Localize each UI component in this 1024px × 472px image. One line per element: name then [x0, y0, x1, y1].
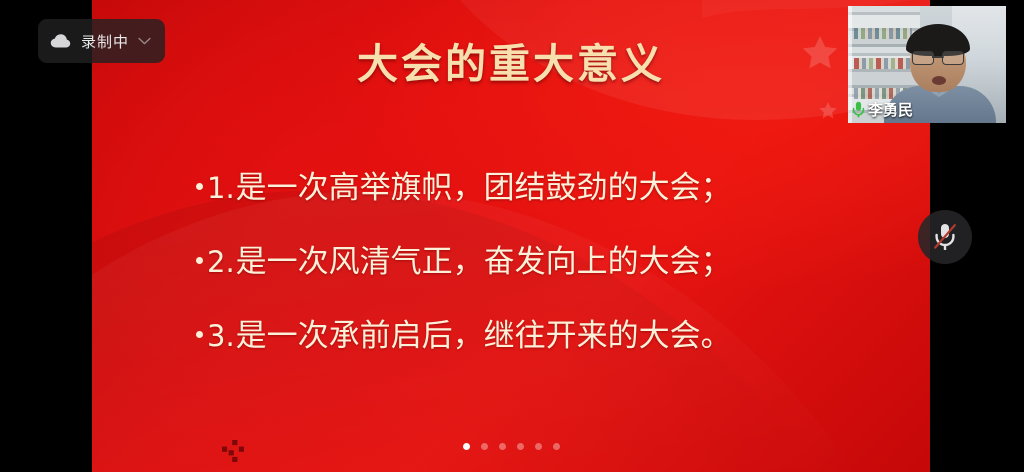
glasses-lens-left: [912, 51, 934, 65]
microphone-on-icon: [852, 101, 865, 118]
person-glasses: [912, 51, 964, 63]
bullet-number: 1.: [207, 168, 235, 208]
participant-name-plate: 李勇民: [852, 99, 913, 120]
participant-video-tile[interactable]: 李勇民: [848, 6, 1006, 123]
bullet-text: 是一次高举旗帜，团结鼓劲的大会；: [236, 168, 732, 208]
slide-bullet-list: 1. 是一次高举旗帜，团结鼓劲的大会； 2. 是一次风清气正，奋发向上的大会； …: [196, 168, 896, 390]
pinwheel-logo-icon: [220, 438, 246, 464]
slide-bullet-item: 2. 是一次风清气正，奋发向上的大会；: [196, 242, 896, 316]
bullet-number: 2.: [207, 242, 235, 282]
recording-label: 录制中: [81, 31, 129, 52]
cloud-icon: [50, 33, 72, 49]
slide-bullet-item: 3. 是一次承前启后，继往开来的大会。: [196, 316, 896, 390]
page-dot[interactable]: [499, 443, 506, 450]
shared-slide[interactable]: 大会的重大意义 1. 是一次高举旗帜，团结鼓劲的大会； 2. 是一次风清气正，奋…: [92, 0, 930, 472]
participant-name: 李勇民: [868, 99, 913, 120]
recording-status-badge[interactable]: 录制中: [38, 19, 165, 63]
page-dot[interactable]: [553, 443, 560, 450]
bullet-dot-icon: [196, 331, 203, 338]
bullet-dot-icon: [196, 183, 203, 190]
page-dot[interactable]: [517, 443, 524, 450]
person-mouth: [932, 76, 946, 85]
page-dot[interactable]: [535, 443, 542, 450]
bullet-text: 是一次风清气正，奋发向上的大会；: [236, 242, 732, 282]
slide-title: 大会的重大意义: [92, 38, 930, 90]
page-dot[interactable]: [481, 443, 488, 450]
bullet-text: 是一次承前启后，继往开来的大会。: [236, 316, 732, 356]
page-dot[interactable]: [463, 443, 470, 450]
slide-page-indicator[interactable]: [92, 443, 930, 450]
bullet-number: 3.: [207, 316, 235, 356]
meeting-stage: 大会的重大意义 1. 是一次高举旗帜，团结鼓劲的大会； 2. 是一次风清气正，奋…: [0, 0, 1024, 472]
slide-bullet-item: 1. 是一次高举旗帜，团结鼓劲的大会；: [196, 168, 896, 242]
chevron-down-icon[interactable]: [138, 37, 151, 45]
books-row: [854, 58, 912, 69]
mute-microphone-button[interactable]: [918, 210, 972, 264]
bullet-dot-icon: [196, 257, 203, 264]
books-row: [854, 28, 912, 39]
glasses-lens-right: [942, 51, 964, 65]
microphone-muted-icon: [932, 222, 958, 252]
